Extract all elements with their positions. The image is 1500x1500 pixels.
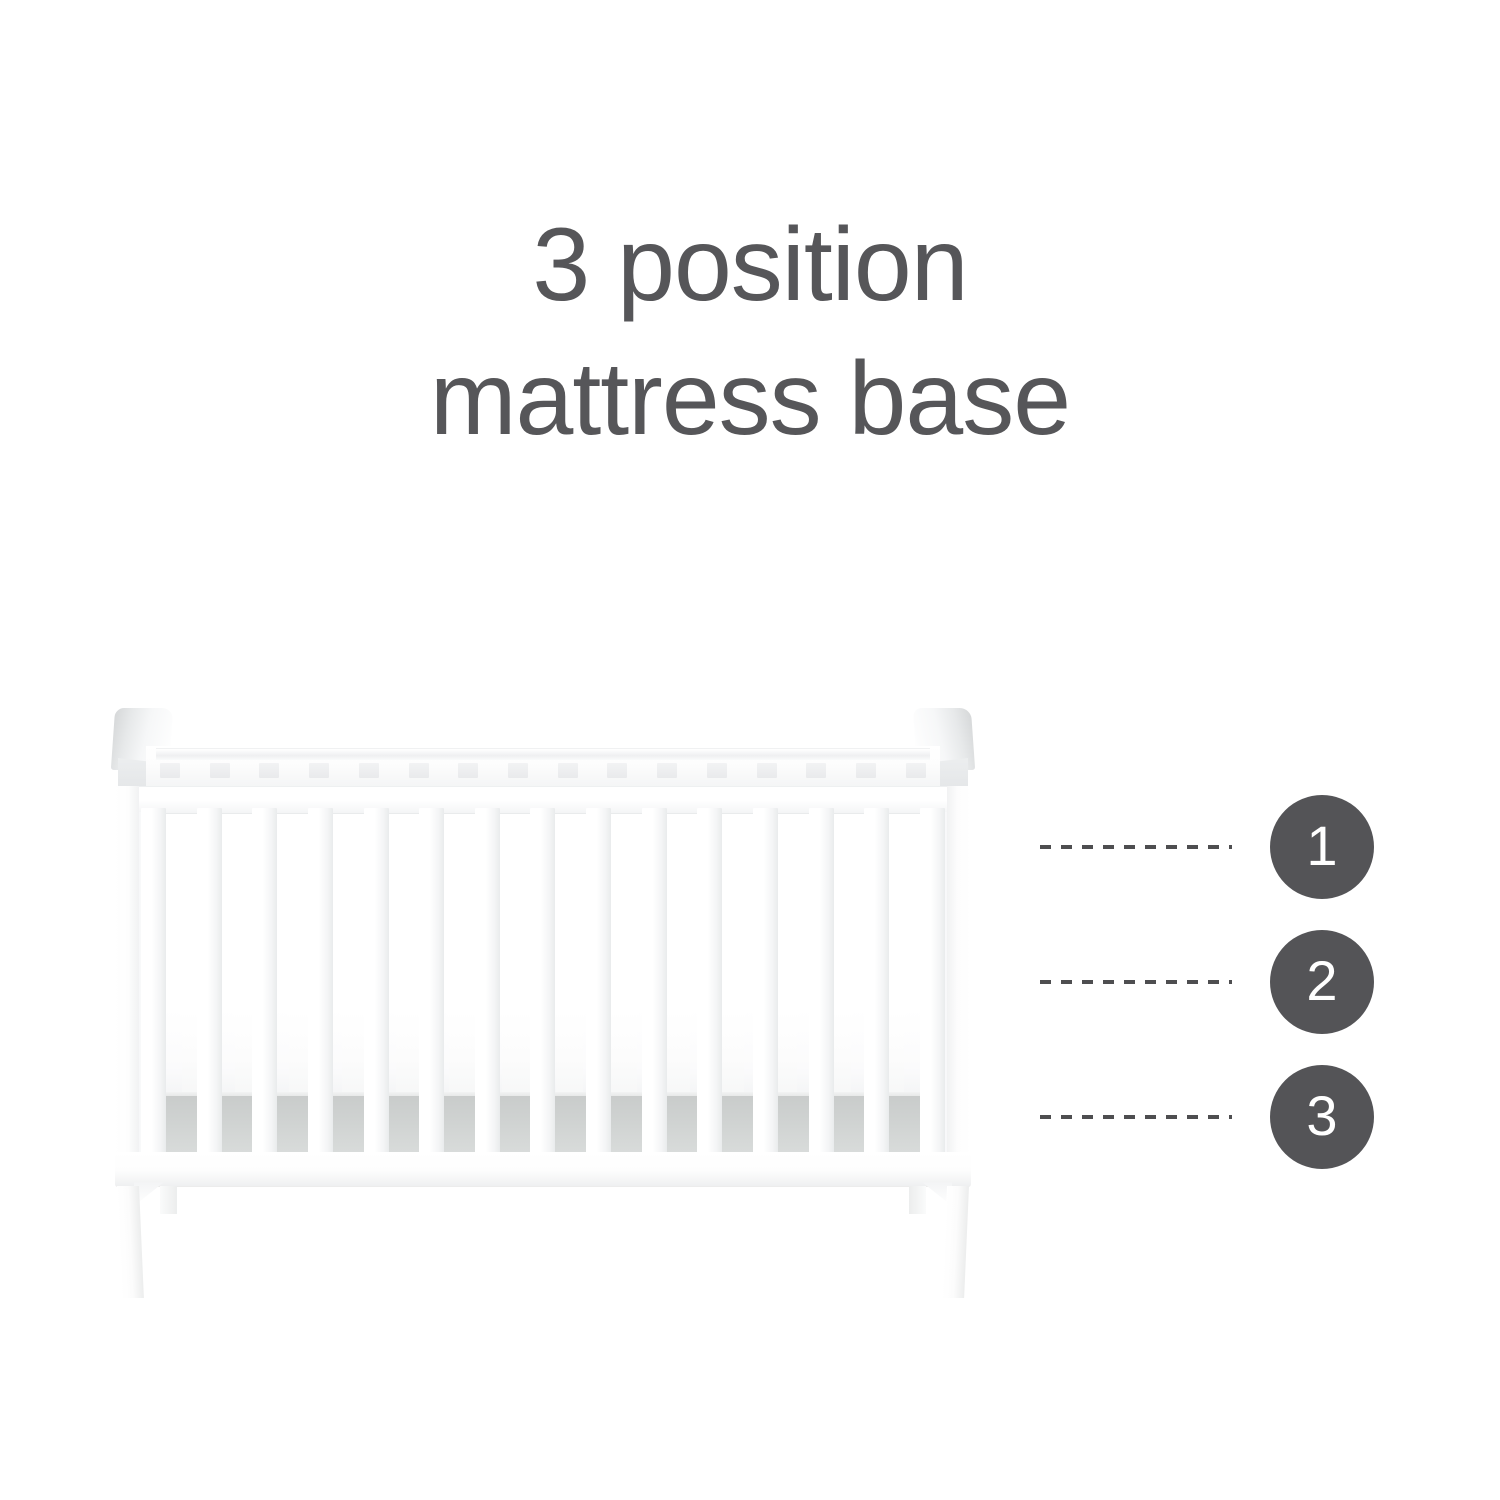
cot-far-slat <box>160 763 180 778</box>
cot-far-top-rail <box>156 748 930 760</box>
callout-badge-1[interactable]: 1 <box>1270 795 1374 899</box>
cot-far-slat <box>757 763 777 778</box>
callout-1: 1 <box>1040 795 1374 899</box>
cot-slat <box>809 808 834 1156</box>
cot-far-slat <box>558 763 578 778</box>
cot-slat <box>364 808 389 1156</box>
cot-leg-rear-right <box>909 1186 926 1214</box>
callout-leader-line-2 <box>1040 980 1232 984</box>
cot-corner-post-right <box>947 786 971 1164</box>
cot-leg-front-left <box>117 1186 144 1298</box>
callout-leader-line-1 <box>1040 845 1232 849</box>
cot-far-slat-group <box>160 763 926 778</box>
page-title-line-1: 3 position <box>0 198 1500 332</box>
cot-bottom-rail <box>115 1152 971 1187</box>
cot-far-slat <box>409 763 429 778</box>
cot-slat <box>419 808 444 1156</box>
cot-far-slat <box>210 763 230 778</box>
cot-slat <box>252 808 277 1156</box>
cot-far-slat <box>309 763 329 778</box>
callout-3: 3 <box>1040 1065 1374 1169</box>
callout-badge-2[interactable]: 2 <box>1270 930 1374 1034</box>
cot-slat <box>753 808 778 1156</box>
cot-slat <box>864 808 889 1156</box>
cot-far-slat <box>856 763 876 778</box>
cot-slat <box>308 808 333 1156</box>
callout-leader-line-3 <box>1040 1115 1232 1119</box>
cot-slat <box>586 808 611 1156</box>
cot-corner-post-left <box>115 786 139 1164</box>
page-title-line-2: mattress base <box>0 332 1500 466</box>
cot-slat <box>141 808 166 1156</box>
cot-slat <box>197 808 222 1156</box>
infographic-canvas: 3 position mattress base 1 <box>0 0 1500 1500</box>
cot-bed-illustration <box>108 700 978 1300</box>
cot-far-slat <box>657 763 677 778</box>
cot-leg-rear-left <box>160 1186 177 1214</box>
cot-slat <box>642 808 667 1156</box>
cot-leg-front-right <box>942 1186 969 1298</box>
cot-far-slat <box>707 763 727 778</box>
callout-2: 2 <box>1040 930 1374 1034</box>
cot-slat <box>475 808 500 1156</box>
cot-far-slat <box>607 763 627 778</box>
cot-far-slat <box>806 763 826 778</box>
cot-far-slat <box>359 763 379 778</box>
cot-far-slat <box>508 763 528 778</box>
page-title: 3 position mattress base <box>0 198 1500 466</box>
cot-far-slat <box>458 763 478 778</box>
cot-slat <box>697 808 722 1156</box>
cot-far-slat <box>906 763 926 778</box>
callout-badge-3[interactable]: 3 <box>1270 1065 1374 1169</box>
cot-slat <box>920 808 945 1156</box>
cot-slat <box>530 808 555 1156</box>
cot-far-slat <box>259 763 279 778</box>
cot-front-slat-group <box>141 808 945 1156</box>
